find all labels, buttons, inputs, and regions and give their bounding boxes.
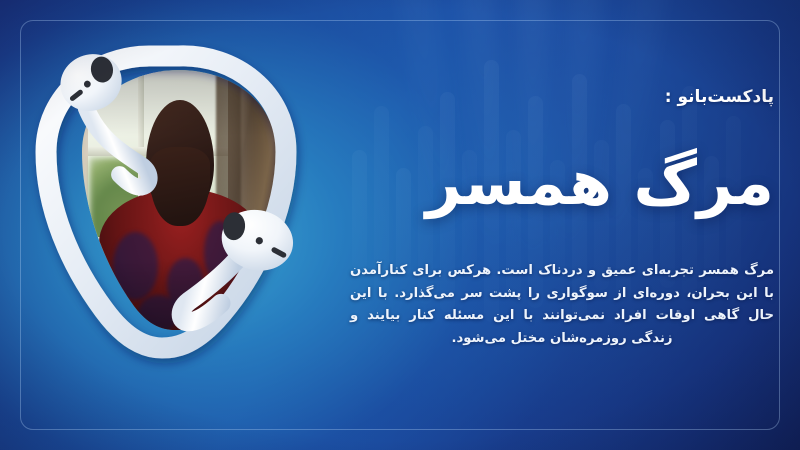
artwork xyxy=(34,48,320,358)
cord-frame xyxy=(34,48,320,358)
earbud-top xyxy=(52,45,163,202)
body-paragraph: مرگ همسر تجربه‌ای عمیق و دردناک است. هرک… xyxy=(350,260,774,351)
text-column: پادکست‌بانو : مرگ همسر مرگ همسر تجربه‌ای… xyxy=(350,86,774,351)
page-title: مرگ همسر xyxy=(350,150,774,216)
earbud-top-stem xyxy=(86,96,152,195)
podcast-banner: پادکست‌بانو : مرگ همسر مرگ همسر تجربه‌ای… xyxy=(0,0,800,450)
podcast-label: پادکست‌بانو : xyxy=(350,86,774,108)
